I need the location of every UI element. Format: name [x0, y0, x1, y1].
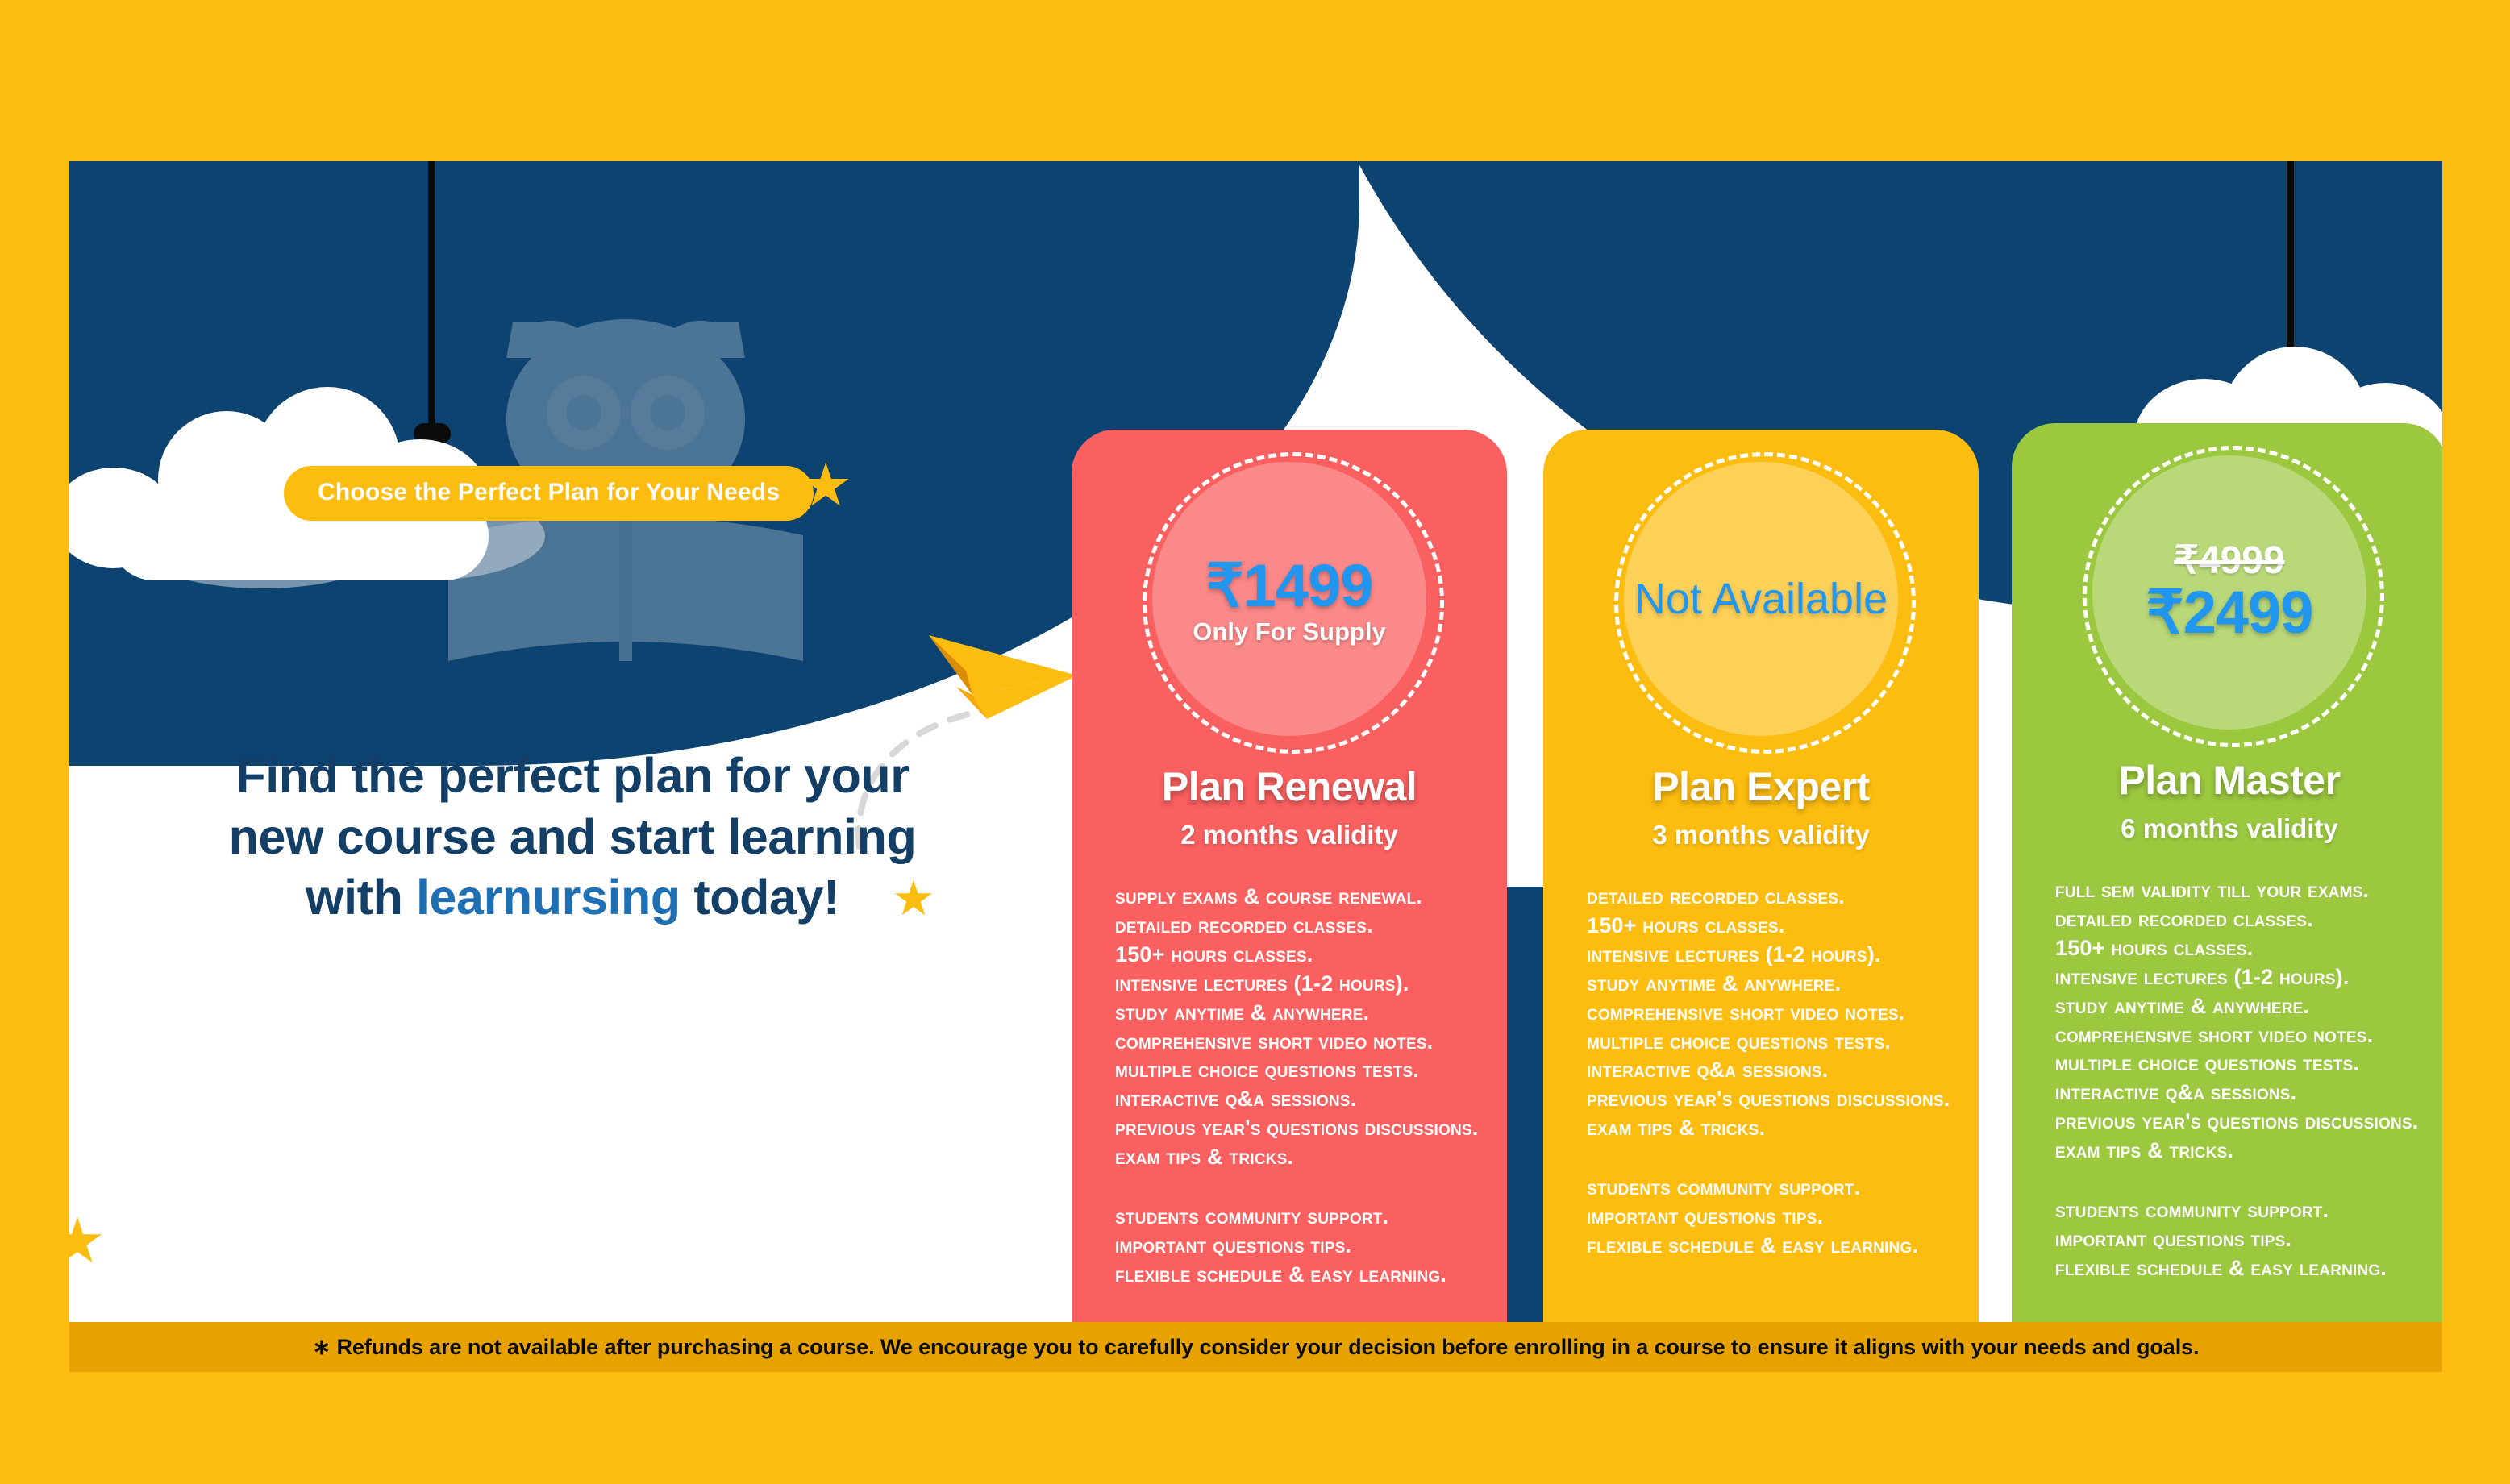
- feature-item: Study anytime & anywhere.: [1587, 970, 1954, 999]
- price-unavailable-label: Not Available: [1634, 574, 1888, 624]
- price-original: ₹4999: [2174, 538, 2284, 583]
- feature-gap: [2055, 1166, 2423, 1196]
- feature-item: 150+ hours classes.: [1115, 941, 1483, 970]
- price-current: ₹2499: [2146, 578, 2313, 647]
- feature-item: Comprehensive short video notes.: [1115, 1028, 1483, 1057]
- price-badge: Not Available: [1624, 462, 1898, 736]
- feature-item: Previous year's questions discussions.: [1115, 1114, 1483, 1143]
- headline-line-2: new course and start learning: [145, 807, 1000, 868]
- feature-item: Comprehensive short video notes.: [2055, 1021, 2423, 1050]
- feature-item: Comprehensive short video notes.: [1587, 999, 1954, 1028]
- feature-item: Multiple Choice Questions tests.: [1587, 1028, 1954, 1057]
- feature-item: 150+ hours classes.: [2055, 934, 2423, 963]
- plan-title: Plan Master: [2036, 757, 2423, 804]
- feature-list: Supply exams & Course renewal. Detailed …: [1096, 883, 1483, 1290]
- feature-item: Exam tips & tricks.: [2055, 1137, 2423, 1166]
- plan-validity: 6 months validity: [2036, 813, 2423, 844]
- plan-card-master[interactable]: ₹4999 ₹2499 Plan Master 6 months validit…: [2012, 423, 2442, 1322]
- feature-item: Interactive Q&A sessions.: [1115, 1085, 1483, 1114]
- disclaimer-text: ∗ Refunds are not available after purcha…: [313, 1335, 2200, 1360]
- feature-item: Interactive Q&A sessions.: [1587, 1056, 1954, 1085]
- plan-card-renewal[interactable]: ₹1499 Only For Supply Plan Renewal 2 mon…: [1072, 430, 1507, 1322]
- feature-item: Detailed recorded classes.: [1587, 883, 1954, 912]
- extra-item: Important Questions Tips.: [2055, 1225, 2423, 1254]
- price-badge: ₹1499 Only For Supply: [1152, 462, 1426, 736]
- feature-gap: [1115, 1172, 1483, 1203]
- headline-line-2a: new course and start: [229, 809, 728, 864]
- feature-item: Study anytime & anywhere.: [1115, 999, 1483, 1028]
- feature-item: Detailed recorded classes.: [2055, 905, 2423, 934]
- feature-item: Exam tips & tricks.: [1115, 1143, 1483, 1172]
- extra-item: Important Questions Tips.: [1587, 1203, 1954, 1232]
- feature-item: 150+ hours classes.: [1587, 912, 1954, 941]
- headline-line-3c: today!: [681, 870, 839, 925]
- plan-cards: ₹1499 Only For Supply Plan Renewal 2 mon…: [69, 161, 2442, 1322]
- headline-line-2b: learning: [727, 809, 916, 864]
- footer-disclaimer-bar: ∗ Refunds are not available after purcha…: [69, 1322, 2442, 1372]
- feature-item: Interactive Q&A sessions.: [2055, 1079, 2423, 1108]
- feature-item: Multiple Choice Questions tests.: [1115, 1056, 1483, 1085]
- feature-list: Detailed recorded classes. 150+ hours cl…: [1567, 883, 1954, 1261]
- feature-gap: [1587, 1143, 1954, 1174]
- poster-canvas: ★ ★ ★ ★ ★ ₹1499 Only For Supply Plan Ren: [69, 161, 2442, 1322]
- section-badge-pill[interactable]: Choose the Perfect Plan for Your Needs: [284, 466, 814, 521]
- extra-item: Flexible Schedule & Easy Learning.: [1587, 1232, 1954, 1261]
- extra-item: Students Community Support.: [2055, 1196, 2423, 1225]
- feature-item: Exam tips & tricks.: [1587, 1114, 1954, 1143]
- plan-title: Plan Renewal: [1096, 763, 1483, 810]
- feature-item: Previous year's questions discussions.: [2055, 1108, 2423, 1137]
- headline-line-3: with learnursing today!: [145, 867, 1000, 929]
- feature-list: Full sem validity till your exams. Detai…: [2036, 876, 2423, 1283]
- plan-validity: 3 months validity: [1567, 820, 1954, 850]
- extra-item: Important Questions Tips.: [1115, 1232, 1483, 1261]
- plan-title: Plan Expert: [1567, 763, 1954, 810]
- extra-item: Students Community Support.: [1587, 1174, 1954, 1203]
- price-badge: ₹4999 ₹2499: [2092, 455, 2366, 730]
- headline-line-1: Find the perfect plan for your: [145, 746, 1000, 807]
- price-current: ₹1499: [1206, 551, 1373, 621]
- feature-item: Supply exams & Course renewal.: [1115, 883, 1483, 912]
- page-headline: Find the perfect plan for your new cours…: [145, 746, 1000, 929]
- feature-item: Study anytime & anywhere.: [2055, 992, 2423, 1021]
- brand-name: learnursing: [416, 870, 681, 925]
- feature-item: Intensive lectures (1-2 hours).: [2055, 963, 2423, 992]
- extra-item: Students Community Support.: [1115, 1203, 1483, 1232]
- feature-item: Full sem validity till your exams.: [2055, 876, 2423, 905]
- extra-item: Flexible Schedule & Easy Learning.: [2055, 1254, 2423, 1283]
- headline-line-3a: with: [306, 870, 416, 925]
- feature-item: Multiple Choice Questions tests.: [2055, 1050, 2423, 1079]
- extra-item: Flexible Schedule & Easy Learning.: [1115, 1261, 1483, 1290]
- price-note: Only For Supply: [1193, 617, 1385, 646]
- pricing-poster: ★ ★ ★ ★ ★ ₹1499 Only For Supply Plan Ren: [0, 0, 2510, 1484]
- feature-item: Intensive lectures (1-2 hours).: [1587, 941, 1954, 970]
- feature-item: Detailed recorded classes.: [1115, 912, 1483, 941]
- feature-item: Previous year's questions discussions.: [1587, 1085, 1954, 1114]
- plan-card-expert[interactable]: Not Available Plan Expert 3 months valid…: [1543, 430, 1979, 1322]
- feature-item: Intensive lectures (1-2 hours).: [1115, 970, 1483, 999]
- plan-validity: 2 months validity: [1096, 820, 1483, 850]
